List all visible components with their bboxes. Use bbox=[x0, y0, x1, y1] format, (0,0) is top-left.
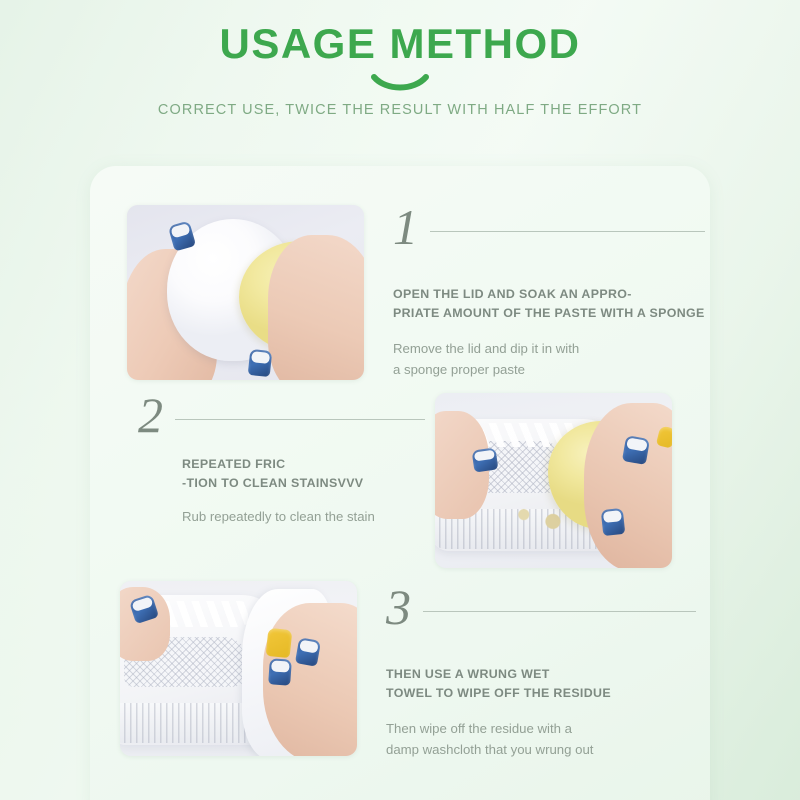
step-text: 1 OPEN THE LID AND SOAK AN APPRO- PRIATE… bbox=[364, 205, 719, 380]
step-row: 2 REPEATED FRIC -TION TO CLEAN STAINSVVV… bbox=[90, 393, 710, 568]
fingernail-icon bbox=[472, 447, 499, 472]
step-heading-line: REPEATED FRIC bbox=[182, 455, 425, 474]
fingernail-icon bbox=[248, 349, 273, 377]
usage-method-infographic: USAGE METHOD CORRECT USE, TWICE THE RESU… bbox=[0, 0, 800, 800]
step-heading-line: THEN USE A WRUNG WET bbox=[386, 665, 696, 684]
step-photo bbox=[127, 205, 364, 380]
step-divider bbox=[423, 611, 696, 612]
step-number-row: 1 bbox=[393, 205, 705, 255]
step-description-line: damp washcloth that you wrung out bbox=[386, 740, 696, 760]
step-number: 1 bbox=[393, 202, 418, 258]
step-divider bbox=[175, 419, 425, 420]
header: USAGE METHOD CORRECT USE, TWICE THE RESU… bbox=[0, 0, 800, 118]
step-heading: REPEATED FRIC -TION TO CLEAN STAINSVVV bbox=[132, 455, 425, 493]
step-heading-line: TOWEL TO WIPE OFF THE RESIDUE bbox=[386, 684, 696, 703]
step-row: 1 OPEN THE LID AND SOAK AN APPRO- PRIATE… bbox=[90, 205, 710, 380]
fingernail-icon bbox=[268, 658, 292, 685]
step-row: 3 THEN USE A WRUNG WET TOWEL TO WIPE OFF… bbox=[90, 581, 710, 760]
step-heading-line: OPEN THE LID AND SOAK AN APPRO- bbox=[393, 285, 705, 304]
smile-curve-icon bbox=[0, 72, 800, 94]
fingernail-icon bbox=[295, 637, 321, 666]
step-description: Remove the lid and dip it in with a spon… bbox=[393, 339, 705, 380]
step-number-row: 3 bbox=[386, 585, 696, 635]
step-heading: THEN USE A WRUNG WET TOWEL TO WIPE OFF T… bbox=[386, 665, 696, 703]
fingernail-icon bbox=[622, 435, 650, 465]
step-heading-line: -TION TO CLEAN STAINSVVV bbox=[182, 474, 425, 493]
step-number: 2 bbox=[138, 390, 163, 446]
step-divider bbox=[430, 231, 705, 232]
step-heading-line: PRIATE AMOUNT OF THE PASTE WITH A SPONGE bbox=[393, 304, 705, 323]
step-description-line: Rub repeatedly to clean the stain bbox=[182, 507, 425, 527]
step-description-line: a sponge proper paste bbox=[393, 360, 705, 380]
step-number-row: 2 bbox=[132, 393, 425, 443]
step-photo bbox=[120, 581, 357, 756]
hand-icon bbox=[584, 403, 672, 568]
step-number: 3 bbox=[386, 582, 411, 638]
hand-icon bbox=[268, 235, 364, 380]
fingernail-icon bbox=[601, 508, 626, 536]
page-title: USAGE METHOD bbox=[0, 22, 800, 66]
page-subtitle: CORRECT USE, TWICE THE RESULT WITH HALF … bbox=[0, 102, 800, 118]
step-description-line: Then wipe off the residue with a bbox=[386, 719, 696, 739]
step-heading: OPEN THE LID AND SOAK AN APPRO- PRIATE A… bbox=[393, 285, 705, 323]
step-text: 2 REPEATED FRIC -TION TO CLEAN STAINSVVV… bbox=[90, 393, 435, 528]
step-description-line: Remove the lid and dip it in with bbox=[393, 339, 705, 359]
step-text: 3 THEN USE A WRUNG WET TOWEL TO WIPE OFF… bbox=[357, 581, 710, 760]
step-photo bbox=[435, 393, 672, 568]
steps-panel: 1 OPEN THE LID AND SOAK AN APPRO- PRIATE… bbox=[90, 166, 710, 800]
step-description: Rub repeatedly to clean the stain bbox=[132, 507, 425, 527]
fingernail-icon bbox=[266, 628, 293, 658]
step-description: Then wipe off the residue with a damp wa… bbox=[386, 719, 696, 760]
